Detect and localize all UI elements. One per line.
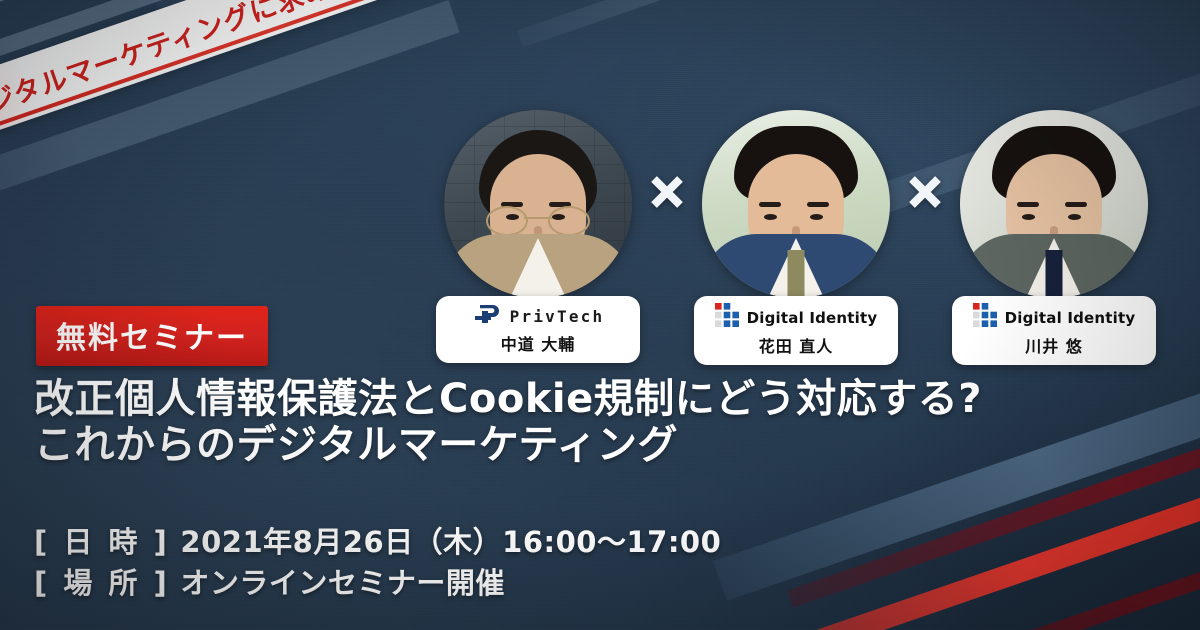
vignette-overlay (0, 0, 1200, 630)
seminar-banner: デジタルマーケティングに求められるプライバシー対策 (0, 0, 1200, 630)
